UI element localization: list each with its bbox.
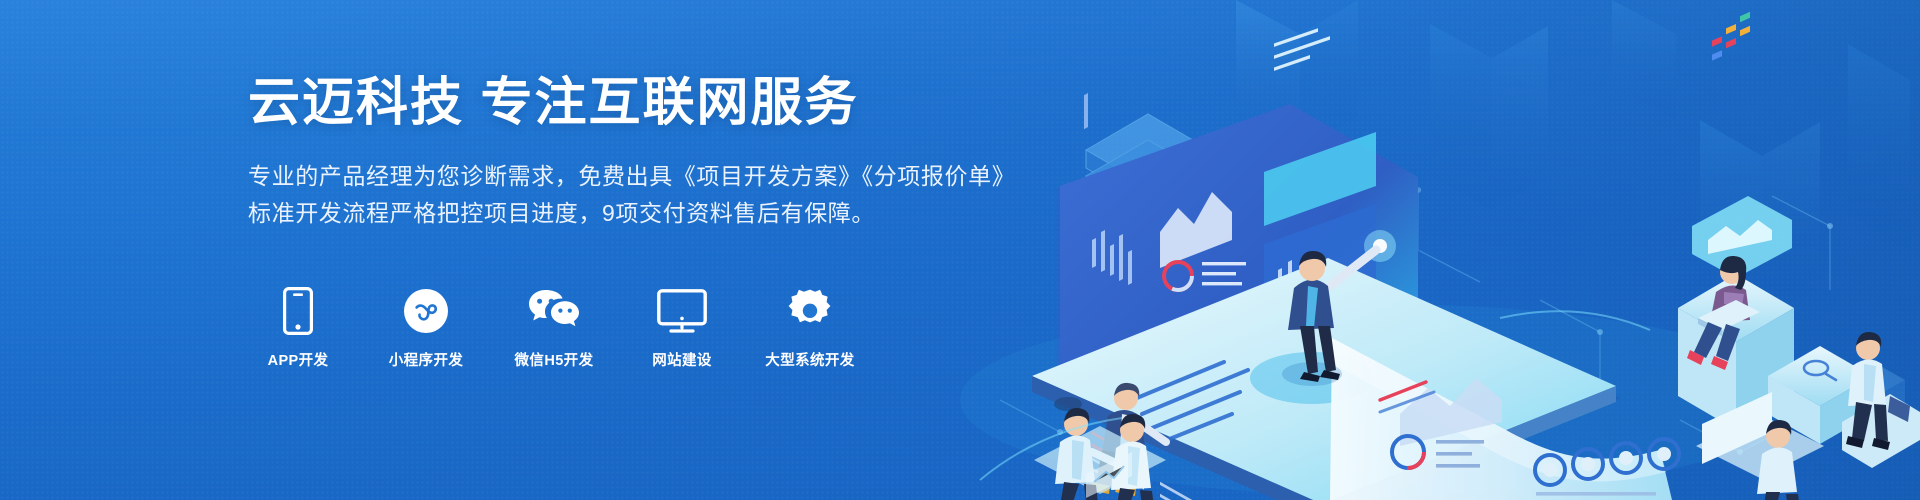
service-label: APP开发 — [268, 349, 329, 370]
service-item-app[interactable]: APP开发 — [250, 285, 346, 370]
mini-program-icon — [403, 285, 449, 337]
desktop-monitor-icon — [657, 285, 707, 337]
service-label: 网站建设 — [652, 349, 712, 370]
mobile-phone-icon — [283, 285, 313, 337]
wechat-bubbles-icon — [527, 285, 581, 337]
service-item-website[interactable]: 网站建设 — [634, 285, 730, 370]
banner-copy: 云迈科技 专注互联网服务 专业的产品经理为您诊断需求，免费出具《项目开发方案》《… — [248, 74, 1108, 233]
gear-icon — [787, 285, 833, 337]
service-list: APP开发 小程序开发 微信 — [250, 285, 858, 370]
subtitle-line-2: 标准开发流程严格把控项目进度，9项交付资料售后有保障。 — [248, 195, 1108, 232]
service-item-mini-program[interactable]: 小程序开发 — [378, 285, 474, 370]
service-item-large-system[interactable]: 大型系统开发 — [762, 285, 858, 370]
service-label: 大型系统开发 — [765, 349, 854, 370]
promo-banner: 云迈科技 专注互联网服务 专业的产品经理为您诊断需求，免费出具《项目开发方案》《… — [0, 0, 1920, 500]
service-label: 微信H5开发 — [515, 349, 594, 370]
service-label: 小程序开发 — [389, 349, 464, 370]
subtitle-line-1: 专业的产品经理为您诊断需求，免费出具《项目开发方案》《分项报价单》 — [248, 158, 1108, 195]
service-item-wechat-h5[interactable]: 微信H5开发 — [506, 285, 602, 370]
page-title: 云迈科技 专注互联网服务 — [248, 74, 1108, 132]
